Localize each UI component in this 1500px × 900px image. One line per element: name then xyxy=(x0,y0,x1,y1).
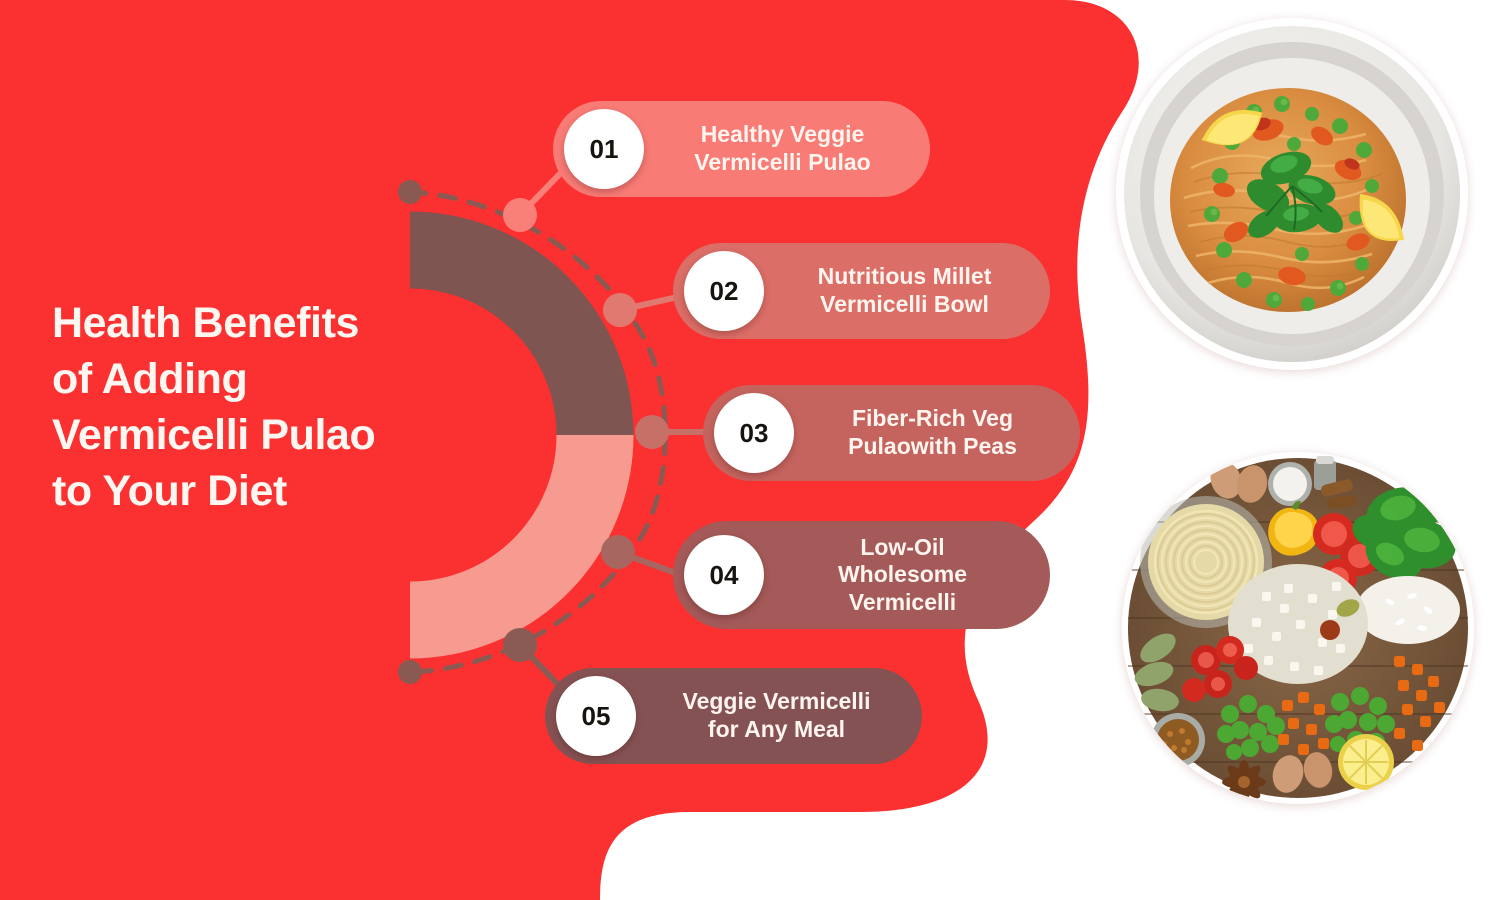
benefit-number-badge-5: 05 xyxy=(556,676,636,756)
benefit-number-2: 02 xyxy=(710,276,739,307)
dashed-path-end-dot xyxy=(398,660,422,684)
infographic-canvas: Health Benefits of Adding Vermicelli Pul… xyxy=(0,0,1500,900)
benefit-item-5[interactable]: 05 Veggie Vermicelli for Any Meal xyxy=(545,668,922,764)
benefit-item-4[interactable]: 04 Low-Oil Wholesome Vermicelli xyxy=(673,521,1050,629)
connector-node-2 xyxy=(603,293,637,327)
benefit-number-5: 05 xyxy=(582,701,611,732)
benefit-number-badge-3: 03 xyxy=(714,393,794,473)
ingredients-flatlay-photo xyxy=(1122,452,1474,804)
benefit-number-4: 04 xyxy=(710,560,739,591)
connector-node-3 xyxy=(635,415,669,449)
dashed-path-start-dot xyxy=(398,180,422,204)
connector-node-4 xyxy=(601,535,635,569)
vermicelli-pulao-bowl-photo xyxy=(1116,18,1468,370)
benefit-item-3[interactable]: 03 Fiber-Rich Veg Pulaowith Peas xyxy=(703,385,1080,481)
benefit-number-badge-4: 04 xyxy=(684,535,764,615)
benefit-item-1[interactable]: 01 Healthy Veggie Vermicelli Pulao xyxy=(553,101,930,197)
benefit-number-3: 03 xyxy=(740,418,769,449)
benefit-number-badge-2: 02 xyxy=(684,251,764,331)
benefit-item-2[interactable]: 02 Nutritious Millet Vermicelli Bowl xyxy=(673,243,1050,339)
benefit-number-badge-1: 01 xyxy=(564,109,644,189)
benefit-number-1: 01 xyxy=(590,134,619,165)
page-title: Health Benefits of Adding Vermicelli Pul… xyxy=(52,296,472,520)
connector-node-1 xyxy=(503,198,537,232)
connector-node-5 xyxy=(503,628,537,662)
